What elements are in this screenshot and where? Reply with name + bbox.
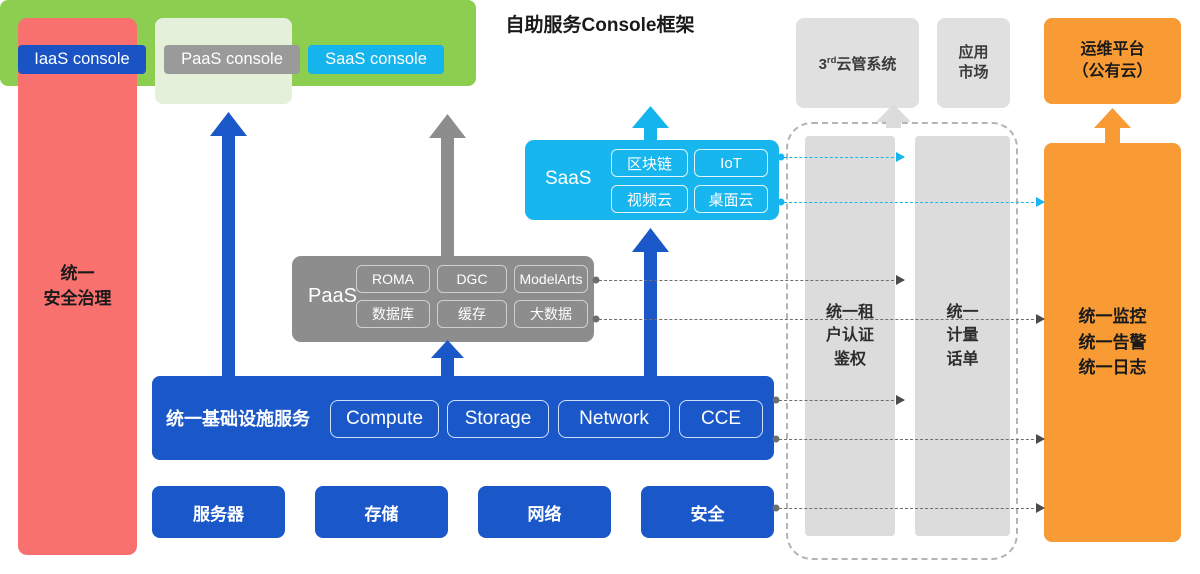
pillar-tenant-auth: 统一租 户认证 鉴权 xyxy=(805,136,895,536)
dashed-line-saas-to-tenant-auth xyxy=(779,157,904,158)
hardware-box-server: 服务器 xyxy=(152,486,285,538)
dashed-line-hardware-to-ops-monitor xyxy=(774,508,1044,509)
iaas-label: 统一基础设施服务 xyxy=(166,405,310,431)
app-market-box: 应用 市场 xyxy=(937,18,1010,108)
ops-monitor-label: 统一监控 统一告警 统一日志 xyxy=(1079,304,1147,381)
paas-label: PaaS xyxy=(308,285,357,308)
dashed-line-saas-to-ops-monitor xyxy=(779,202,1044,203)
dashed-line-arrowhead xyxy=(896,152,905,162)
dashed-line-dot xyxy=(593,277,600,284)
iaas-chip-network: Network xyxy=(558,400,670,438)
paas-chip-dgc: DGC xyxy=(437,265,507,293)
third-party-cloud-mgmt-box: 3rd云管系统 xyxy=(796,18,919,108)
paas-box: PaaS ROMA DGC ModelArts 数据库 缓存 大数据 xyxy=(292,256,594,342)
paas-chip-database: 数据库 xyxy=(356,300,430,328)
hardware-box-security: 安全 xyxy=(641,486,774,538)
dashed-line-dot xyxy=(773,436,780,443)
arrow-to-paas-console xyxy=(429,114,466,256)
pillar-metering-billing: 统一 计量 话单 xyxy=(915,136,1010,536)
hardware-box-network: 网络 xyxy=(478,486,611,538)
paas-chip-bigdata: 大数据 xyxy=(514,300,588,328)
saas-chip-video-cloud: 视频云 xyxy=(611,185,688,213)
pillar-tenant-auth-label: 统一租 户认证 鉴权 xyxy=(826,301,874,371)
saas-box: SaaS 区块链 IoT 视频云 桌面云 xyxy=(525,140,779,220)
saas-label: SaaS xyxy=(545,168,591,190)
iaas-chip-storage: Storage xyxy=(447,400,549,438)
paas-chip-cache: 缓存 xyxy=(437,300,507,328)
dashed-line-dot xyxy=(778,199,785,206)
dashed-line-dot xyxy=(773,505,780,512)
paas-console-button[interactable]: PaaS console xyxy=(164,45,300,74)
dashed-line-dot xyxy=(778,154,785,161)
dashed-line-arrowhead xyxy=(1036,197,1045,207)
dashed-line-paas-to-ops-monitor xyxy=(594,319,1044,320)
dashed-line-arrowhead xyxy=(896,395,905,405)
hardware-box-storage: 存储 xyxy=(315,486,448,538)
third-party-superscript: rd xyxy=(827,55,837,66)
iaas-chip-cce: CCE xyxy=(679,400,763,438)
ops-platform-box: 运维平台 （公有云） xyxy=(1044,18,1181,104)
paas-chip-roma: ROMA xyxy=(356,265,430,293)
dashed-line-dot xyxy=(593,316,600,323)
iaas-chip-compute: Compute xyxy=(330,400,439,438)
dashed-line-dot xyxy=(773,397,780,404)
pillar-metering-billing-label: 统一 计量 话单 xyxy=(946,301,978,371)
ops-platform-label: 运维平台 （公有云） xyxy=(1072,39,1152,84)
paas-chip-modelarts: ModelArts xyxy=(514,265,588,293)
saas-chip-iot: IoT xyxy=(694,149,768,177)
dashed-line-iaas-to-ops-monitor xyxy=(774,439,1044,440)
architecture-diagram: 统一 安全治理 API网关 自助服务Console框架 IaaS console… xyxy=(0,0,1200,574)
dashed-line-paas-to-tenant-auth xyxy=(594,280,904,281)
saas-console-button[interactable]: SaaS console xyxy=(308,45,444,74)
iaas-console-button[interactable]: IaaS console xyxy=(18,45,146,74)
saas-chip-desktop-cloud: 桌面云 xyxy=(694,185,768,213)
console-frame-title: 自助服务Console框架 xyxy=(0,10,1200,37)
saas-chip-blockchain: 区块链 xyxy=(611,149,688,177)
app-market-label: 应用 市场 xyxy=(958,43,988,84)
arrow-iaas-to-saas xyxy=(632,228,669,376)
security-governance-column: 统一 安全治理 xyxy=(18,18,137,555)
dashed-line-arrowhead xyxy=(1036,503,1045,513)
arrow-iaas-to-paas xyxy=(431,340,464,376)
third-party-label: 3rd云管系统 xyxy=(819,53,897,74)
dashed-line-arrowhead xyxy=(896,275,905,285)
iaas-infrastructure-bar: 统一基础设施服务 Compute Storage Network CCE xyxy=(152,376,774,460)
arrow-to-api-gateway xyxy=(210,112,247,376)
arrow-to-saas-console xyxy=(632,106,669,142)
ops-monitor-box: 统一监控 统一告警 统一日志 xyxy=(1044,143,1181,542)
security-governance-label: 统一 安全治理 xyxy=(44,262,112,311)
dashed-line-arrowhead xyxy=(1036,434,1045,444)
dashed-line-arrowhead xyxy=(1036,314,1045,324)
dashed-line-iaas-to-tenant-auth xyxy=(774,400,904,401)
arrow-to-ops-platform xyxy=(1094,108,1131,143)
